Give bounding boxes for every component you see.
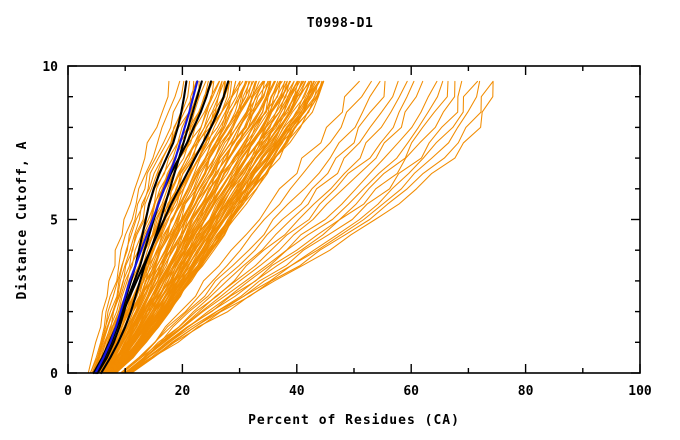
y-tick-label: 10 bbox=[42, 60, 58, 75]
x-tick-label: 20 bbox=[175, 384, 191, 399]
y-tick-label: 5 bbox=[50, 214, 58, 229]
x-tick-label: 40 bbox=[289, 384, 305, 399]
x-tick-label: 100 bbox=[628, 384, 652, 399]
y-tick-label: 0 bbox=[50, 367, 58, 382]
y-axis-label: Distance Cutoff, A bbox=[15, 141, 30, 300]
plot-area: 0204060801000510 Percent of Residues (CA… bbox=[0, 0, 680, 440]
x-tick-label: 80 bbox=[518, 384, 534, 399]
chart-page: T0998-D1 0204060801000510 Percent of Res… bbox=[0, 0, 680, 440]
x-tick-label: 60 bbox=[403, 384, 419, 399]
x-tick-label: 0 bbox=[64, 384, 72, 399]
x-axis-label: Percent of Residues (CA) bbox=[248, 413, 460, 428]
